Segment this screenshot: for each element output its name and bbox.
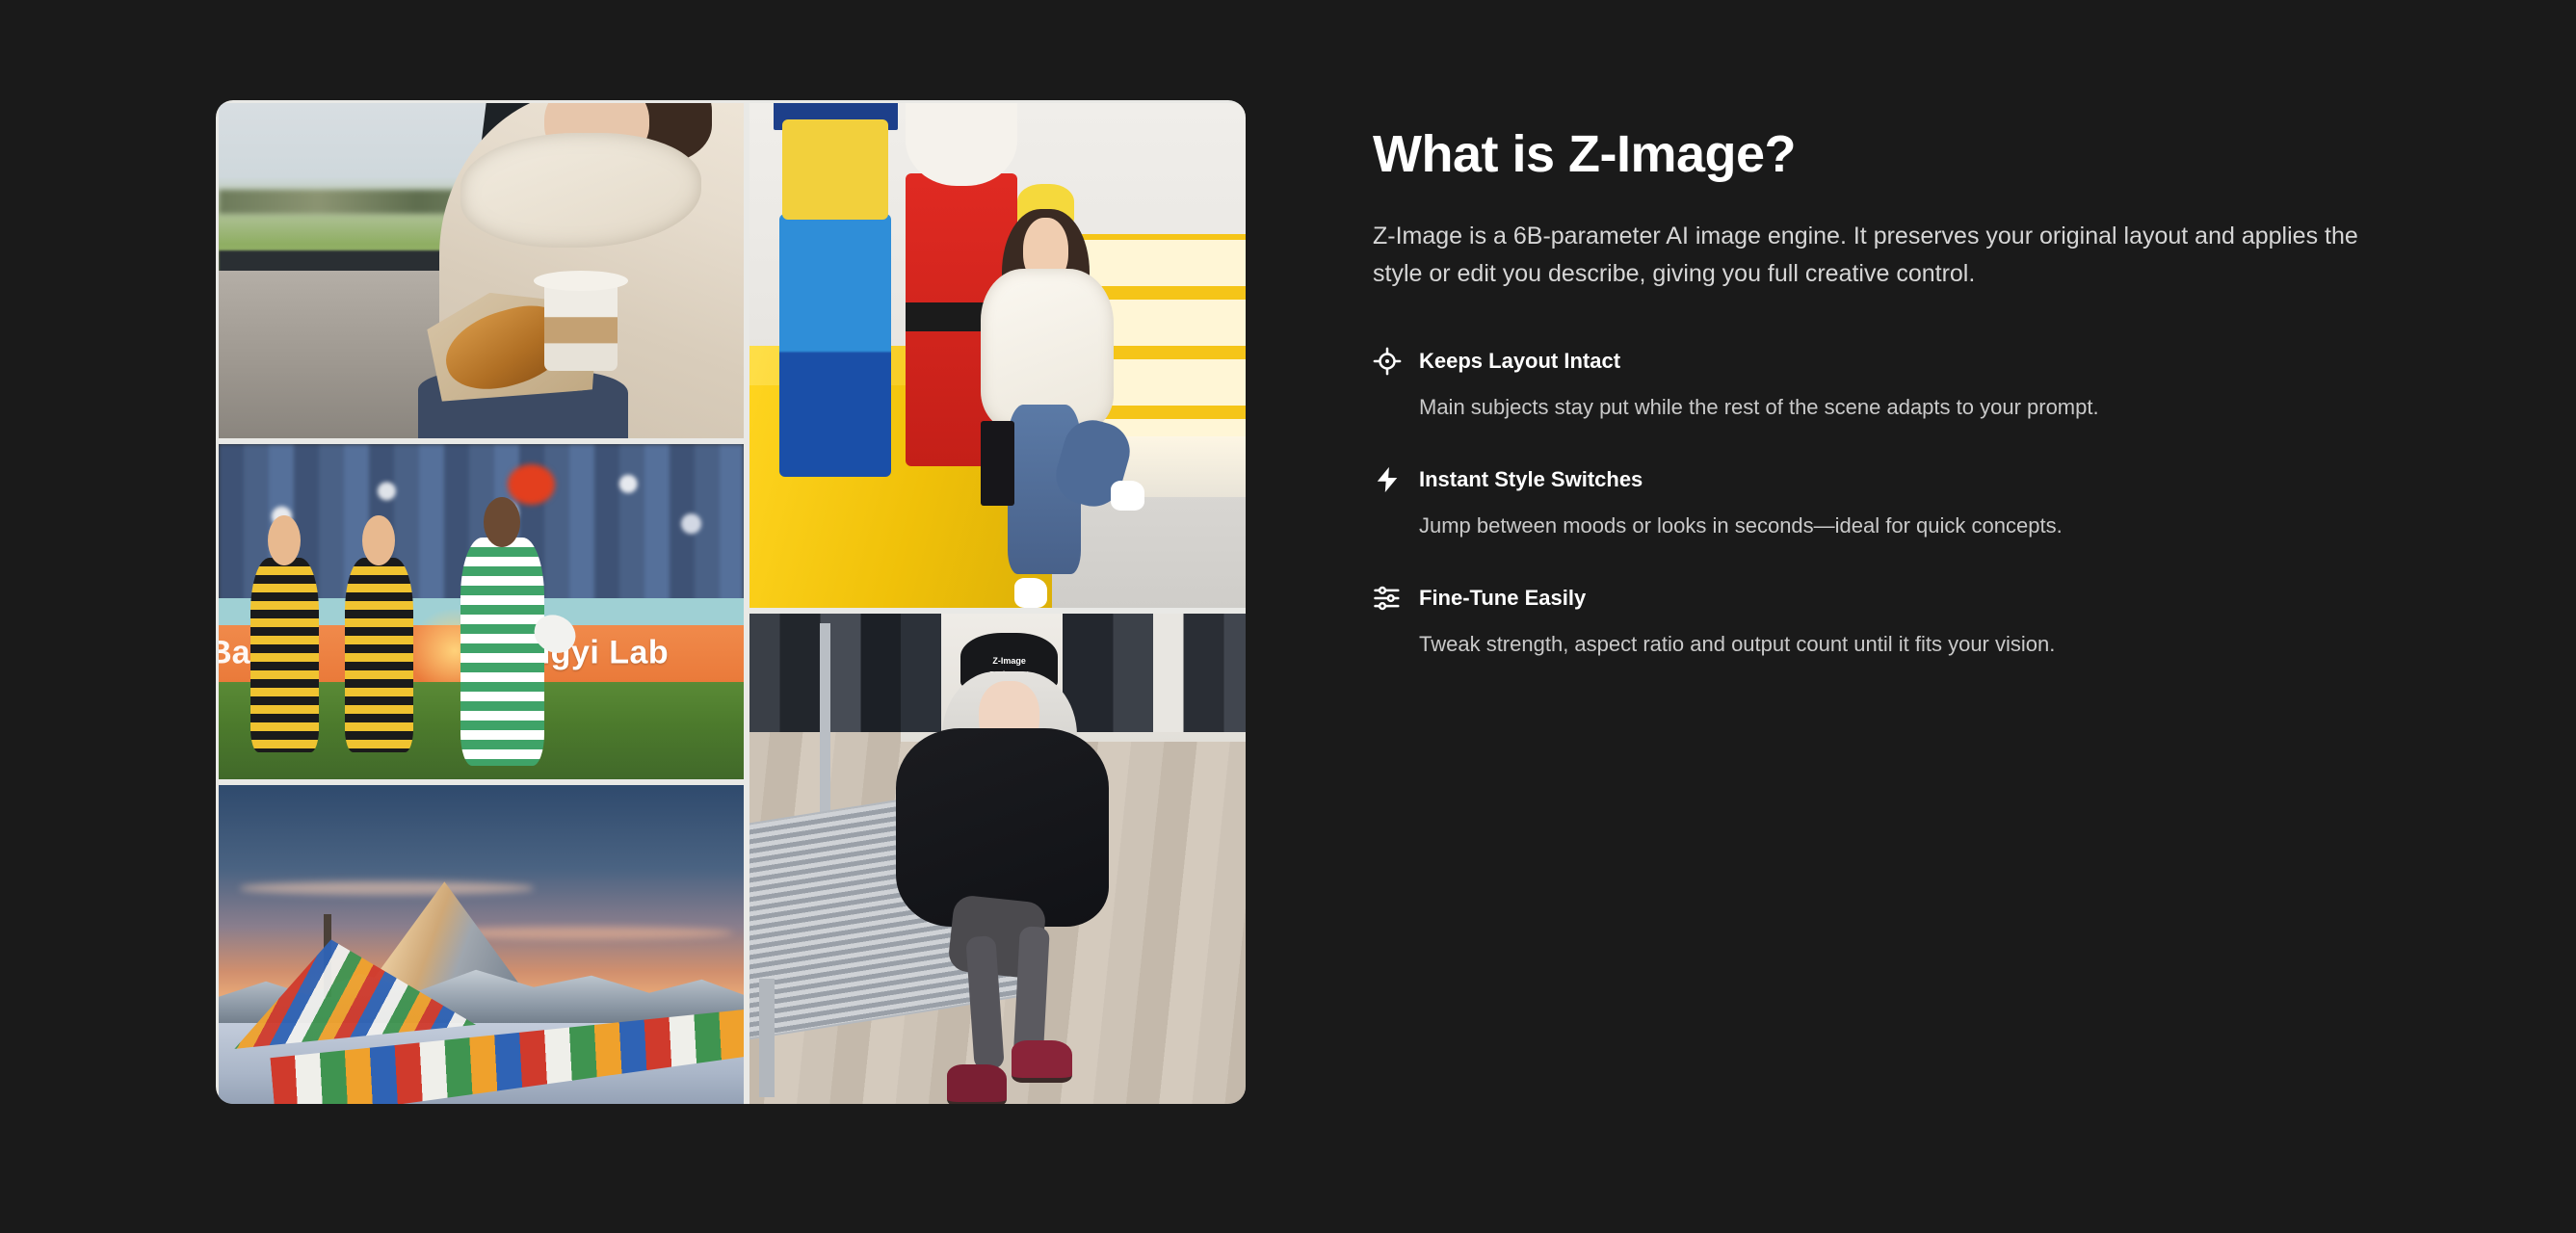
- rugby-scene: Base Tongyi Lab: [219, 444, 744, 779]
- collage-grid: Base Tongyi Lab: [216, 100, 1246, 1104]
- visitor-shoe-left: [1014, 578, 1048, 608]
- crowd-red-flag: [508, 464, 555, 505]
- feature-2-header: Instant Style Switches: [1373, 465, 2432, 494]
- player-green-ball-carrier: [460, 538, 544, 766]
- image-collage: Base Tongyi Lab: [216, 100, 1246, 1104]
- feature-3-description: Tweak strength, aspect ratio and output …: [1419, 628, 2382, 660]
- cloud-band-upper: [240, 881, 534, 894]
- feature-3-title: Fine-Tune Easily: [1419, 586, 1586, 611]
- rugby-match-photo[interactable]: Base Tongyi Lab: [219, 444, 744, 779]
- rack-pole: [820, 623, 829, 840]
- feature-keeps-layout-intact: Keeps Layout Intact Main subjects stay p…: [1373, 347, 2432, 423]
- bench-leg: [759, 979, 775, 1097]
- black-handbag: [981, 421, 1014, 506]
- feature-2-title: Instant Style Switches: [1419, 467, 1643, 492]
- lego-store-visitor: [972, 184, 1123, 608]
- feature-instant-style-switches: Instant Style Switches Jump between mood…: [1373, 465, 2432, 541]
- mountain-scene: [219, 785, 744, 1104]
- feature-3-header: Fine-Tune Easily: [1373, 584, 2432, 613]
- lego-store-photo[interactable]: [749, 103, 1246, 608]
- santa-beard: [906, 103, 1016, 186]
- coffee-cup: [544, 277, 618, 371]
- page-title: What is Z-Image?: [1373, 125, 2432, 183]
- mountain-sunset-photo[interactable]: [219, 785, 744, 1104]
- collage-right-column: Z-Image Real & Fast: [749, 103, 1246, 1104]
- crosshair-icon: [1373, 347, 1402, 376]
- burgundy-shoe-left: [947, 1064, 1008, 1104]
- black-hoodie: [896, 728, 1110, 927]
- player-yellow-1: [250, 558, 319, 752]
- train-scene: [219, 103, 744, 438]
- page-root: Base Tongyi Lab: [0, 0, 2576, 1233]
- feature-1-title: Keeps Layout Intact: [1419, 349, 1620, 374]
- seated-shopper: Z-Image Real & Fast: [891, 633, 1123, 1104]
- burgundy-shoe-right: [1012, 1040, 1072, 1083]
- intro-paragraph: Z-Image is a 6B-parameter AI image engin…: [1373, 218, 2413, 293]
- visitor-shoe-right: [1111, 481, 1144, 511]
- police-minifigure: [779, 214, 890, 476]
- police-face: [782, 119, 889, 220]
- sliders-icon: [1373, 584, 1402, 613]
- clothing-store-photo[interactable]: Z-Image Real & Fast: [749, 614, 1246, 1104]
- feature-1-description: Main subjects stay put while the rest of…: [1419, 391, 2382, 423]
- feature-1-header: Keeps Layout Intact: [1373, 347, 2432, 376]
- feature-2-description: Jump between moods or looks in seconds—i…: [1419, 510, 2382, 541]
- info-panel: What is Z-Image? Z-Image is a 6B-paramet…: [1373, 125, 2432, 660]
- player-yellow-2: [345, 558, 413, 752]
- lightning-bolt-icon: [1373, 465, 1402, 494]
- lego-store-scene: [749, 103, 1246, 608]
- train-commuter-photo[interactable]: [219, 103, 744, 438]
- clothing-store-scene: Z-Image Real & Fast: [749, 614, 1246, 1104]
- coffee-lid: [534, 271, 628, 291]
- collage-left-column: Base Tongyi Lab: [219, 103, 744, 1104]
- beanie-text-line-1: Z-Image: [970, 657, 1048, 666]
- feature-fine-tune-easily: Fine-Tune Easily Tweak strength, aspect …: [1373, 584, 2432, 660]
